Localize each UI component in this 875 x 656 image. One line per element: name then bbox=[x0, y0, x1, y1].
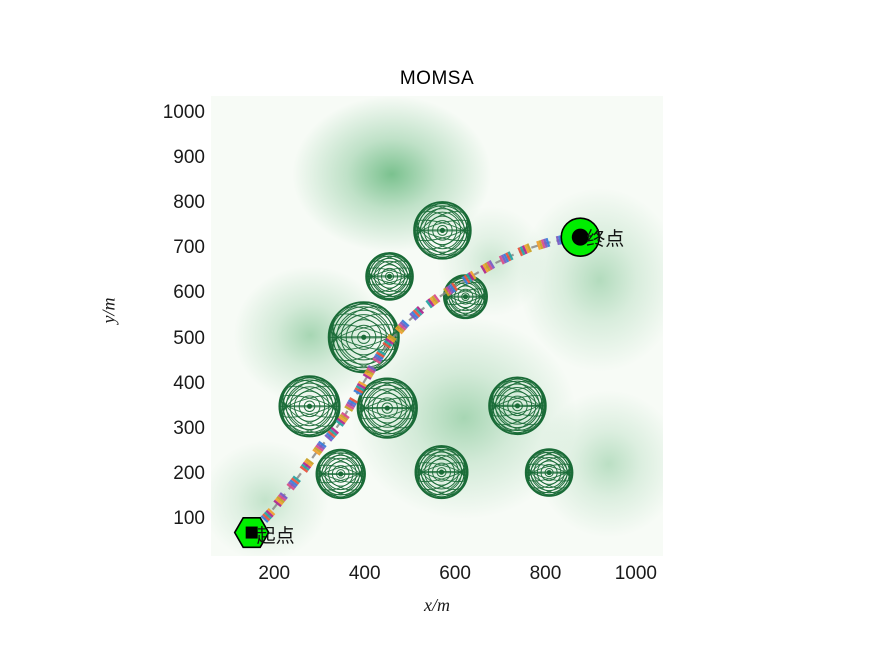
x-axis-label: x/m bbox=[211, 595, 663, 616]
scene-layer bbox=[211, 96, 663, 556]
path-marker bbox=[536, 238, 550, 250]
page-title: MOMSA bbox=[211, 68, 663, 90]
y-tick-label: 1000 bbox=[135, 102, 205, 124]
y-tick-label: 800 bbox=[135, 192, 205, 214]
y-tick-label: 600 bbox=[135, 282, 205, 304]
x-axis-ticks: 2004006008001000 bbox=[211, 563, 663, 589]
y-tick-label: 900 bbox=[135, 147, 205, 169]
plot-area[interactable]: 起点 终点 bbox=[211, 96, 663, 556]
path-marker bbox=[480, 260, 495, 274]
x-tick-label: 200 bbox=[234, 563, 314, 585]
path-marker bbox=[517, 243, 532, 256]
obstacle-sphere bbox=[482, 369, 553, 443]
y-tick-label: 100 bbox=[135, 508, 205, 530]
path-marker bbox=[425, 294, 440, 308]
y-axis-ticks: 1002003004005006007008009001000 bbox=[135, 96, 205, 556]
obstacle-sphere bbox=[520, 442, 579, 503]
path-marker bbox=[344, 397, 358, 412]
path-marker bbox=[300, 458, 314, 473]
end-point-marker[interactable] bbox=[561, 218, 599, 256]
obstacle-sphere bbox=[350, 369, 425, 447]
obstacle-sphere bbox=[320, 291, 408, 383]
path-marker bbox=[499, 251, 514, 264]
path-marker bbox=[363, 365, 377, 380]
obstacle-sphere bbox=[407, 193, 478, 267]
y-tick-label: 700 bbox=[135, 237, 205, 259]
y-tick-label: 200 bbox=[135, 463, 205, 485]
x-tick-label: 800 bbox=[505, 563, 585, 585]
x-tick-label: 400 bbox=[325, 563, 405, 585]
path-marker bbox=[353, 381, 367, 396]
x-tick-label: 1000 bbox=[596, 563, 676, 585]
figure-canvas: MOMSA 起点 终点 1002003004005006007008009001… bbox=[0, 0, 875, 656]
y-axis-label: y/m bbox=[99, 298, 120, 324]
start-point-marker[interactable] bbox=[235, 518, 269, 547]
obstacle-sphere bbox=[409, 438, 475, 506]
y-tick-label: 300 bbox=[135, 418, 205, 440]
x-tick-label: 600 bbox=[415, 563, 495, 585]
path-marker bbox=[261, 508, 276, 523]
y-tick-label: 500 bbox=[135, 328, 205, 350]
obstacle-sphere bbox=[360, 246, 419, 307]
y-tick-label: 400 bbox=[135, 373, 205, 395]
